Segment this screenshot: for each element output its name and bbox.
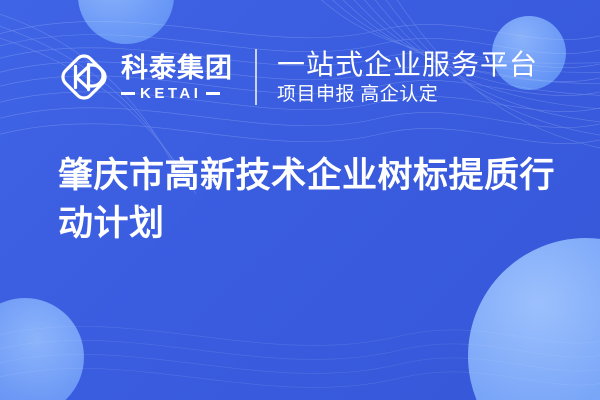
header-divider (255, 49, 257, 105)
promo-banner: 科泰集团 KETAI 一站式企业服务平台 项目申报 高企认定 肇庆市高新技术企业… (0, 0, 600, 400)
decorative-circle-bottom-right (468, 238, 600, 400)
decorative-circle-bottom-left (0, 298, 84, 400)
tagline-primary: 一站式企业服务平台 (277, 49, 538, 81)
logo-company-name: 科泰集团 (121, 53, 233, 83)
banner-header-row: 科泰集团 KETAI 一站式企业服务平台 项目申报 高企认定 (58, 46, 538, 108)
logo-latin-row: KETAI (121, 86, 233, 102)
decorative-circle-top-left (78, 0, 174, 44)
logo-dash-right (206, 92, 220, 95)
logo-wordmark: 科泰集团 KETAI (121, 51, 233, 103)
tagline-secondary: 项目申报 高企认定 (277, 84, 538, 106)
tagline-block: 一站式企业服务平台 项目申报 高企认定 (277, 48, 538, 106)
logo-latin-name: KETAI (140, 86, 201, 102)
logo-dash-left (121, 92, 135, 95)
ketai-diamond-monogram-icon (58, 51, 110, 103)
page-title: 肇庆市高新技术企业树标提质行动计划 (58, 152, 558, 248)
